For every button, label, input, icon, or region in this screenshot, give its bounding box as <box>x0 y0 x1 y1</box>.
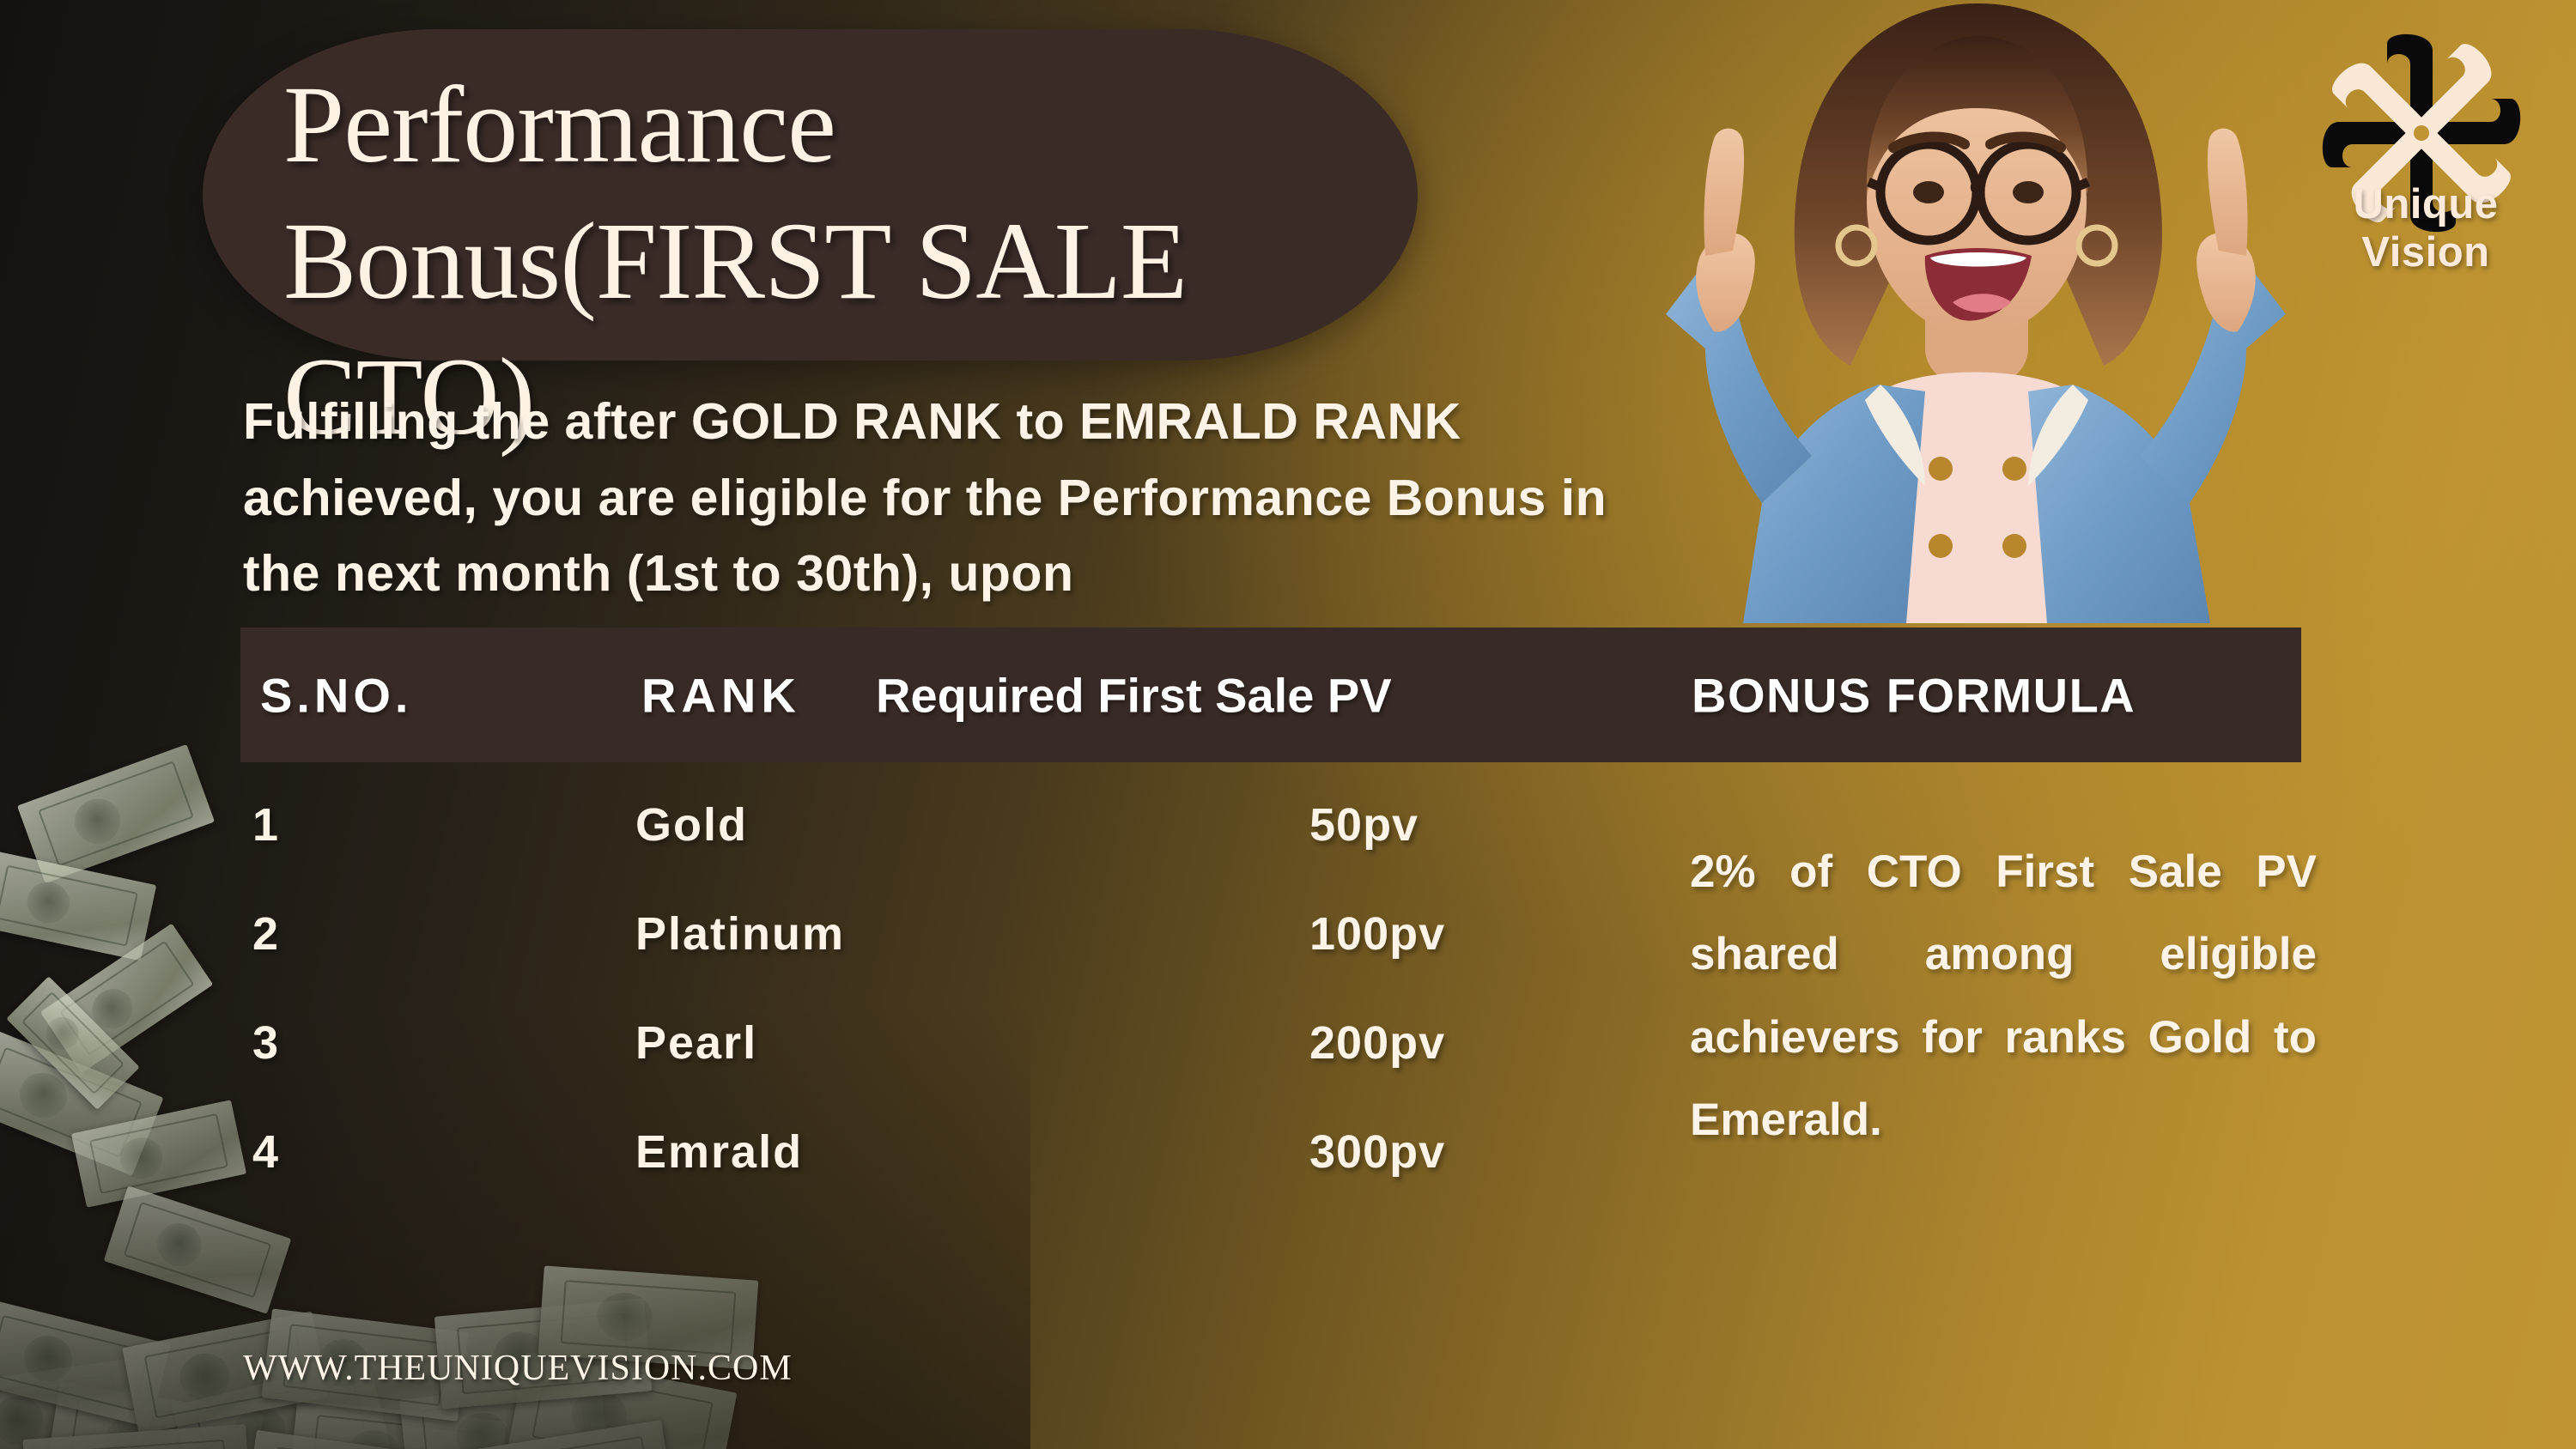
poster-canvas: Performance Bonus(FIRST SALE CTO) Fulfil… <box>0 0 2576 1449</box>
cell-sno: 4 <box>252 1125 278 1179</box>
falling-bill <box>0 1028 164 1175</box>
cell-pv: 300pv <box>1309 1125 1445 1179</box>
table-row: 2 Platinum 100pv <box>240 907 1614 1016</box>
table-body: 1 Gold 50pv 2 Platinum 100pv 3 Pearl 200… <box>240 798 1614 1234</box>
cell-sno: 3 <box>252 1016 278 1070</box>
cell-sno: 2 <box>252 907 278 961</box>
website-url: WWW.THEUNIQUEVISION.COM <box>243 1348 793 1389</box>
presenter-photo <box>1537 0 2413 623</box>
bonus-formula-text: 2% of CTO First Sale PV shared among eli… <box>1690 831 2317 1245</box>
column-header-sno: S.NO. <box>260 667 412 723</box>
column-header-rank: RANK <box>641 667 801 723</box>
table-row: 1 Gold 50pv <box>240 798 1614 907</box>
cell-sno: 1 <box>252 798 278 852</box>
cell-pv: 50pv <box>1309 798 1419 852</box>
falling-bill <box>17 744 215 883</box>
falling-bill <box>40 924 213 1074</box>
falling-bill <box>71 1100 246 1208</box>
table-header-row: S.NO. RANK Required First Sale PV BONUS … <box>240 627 2301 762</box>
cell-rank: Gold <box>635 798 748 852</box>
table-row: 4 Emrald 300pv <box>240 1125 1614 1234</box>
falling-bill <box>6 976 140 1110</box>
cell-rank: Platinum <box>635 907 845 961</box>
brand-name: Unique Vision <box>2284 180 2567 276</box>
table-row: 3 Pearl 200pv <box>240 1016 1614 1125</box>
cell-rank: Pearl <box>635 1016 757 1070</box>
cell-pv: 100pv <box>1309 907 1445 961</box>
intro-paragraph: Fulfilling the after GOLD RANK to EMRALD… <box>243 384 1634 612</box>
column-header-pv: Required First Sale PV <box>876 667 1392 723</box>
cell-pv: 200pv <box>1309 1016 1445 1070</box>
cell-rank: Emrald <box>635 1125 803 1179</box>
column-header-formula: BONUS FORMULA <box>1692 667 2136 723</box>
falling-bill <box>0 851 156 961</box>
